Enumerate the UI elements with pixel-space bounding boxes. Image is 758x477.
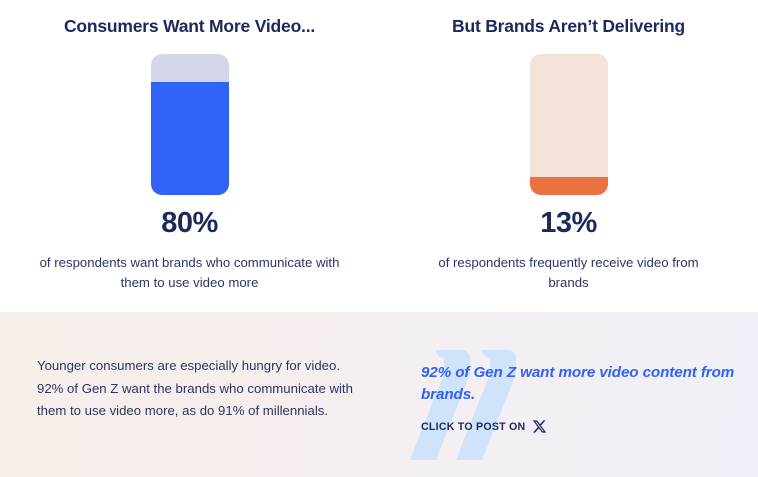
stats-area: Consumers Want More Video... 80% of resp…: [0, 0, 758, 312]
stat-column-consumers: Consumers Want More Video... 80% of resp…: [0, 0, 379, 312]
stat-percent-left: 80%: [161, 209, 218, 238]
stat-heading-right: But Brands Aren’t Delivering: [452, 16, 685, 37]
stat-caption-right: of respondents frequently receive video …: [419, 253, 719, 293]
bar-chart-consumers: [151, 54, 229, 195]
panel-paragraph: Younger consumers are especially hungry …: [37, 355, 367, 423]
stat-column-brands: But Brands Aren’t Delivering 13% of resp…: [379, 0, 758, 312]
stat-heading-left: Consumers Want More Video...: [64, 16, 315, 37]
quote-block: 92% of Gen Z want more video content fro…: [404, 344, 744, 464]
quote-text: 92% of Gen Z want more video content fro…: [421, 362, 741, 405]
bar-fill-consumers: [151, 82, 229, 195]
infographic-root: Consumers Want More Video... 80% of resp…: [0, 0, 758, 477]
x-twitter-icon[interactable]: [532, 419, 547, 434]
stat-percent-right: 13%: [540, 209, 597, 238]
post-label: CLICK TO POST ON: [421, 421, 525, 433]
bar-fill-brands: [530, 177, 608, 195]
click-to-post-button[interactable]: CLICK TO POST ON: [421, 419, 547, 434]
stat-caption-left: of respondents want brands who communica…: [40, 253, 340, 293]
bar-chart-brands: [530, 54, 608, 195]
bottom-panel: Younger consumers are especially hungry …: [0, 312, 758, 477]
